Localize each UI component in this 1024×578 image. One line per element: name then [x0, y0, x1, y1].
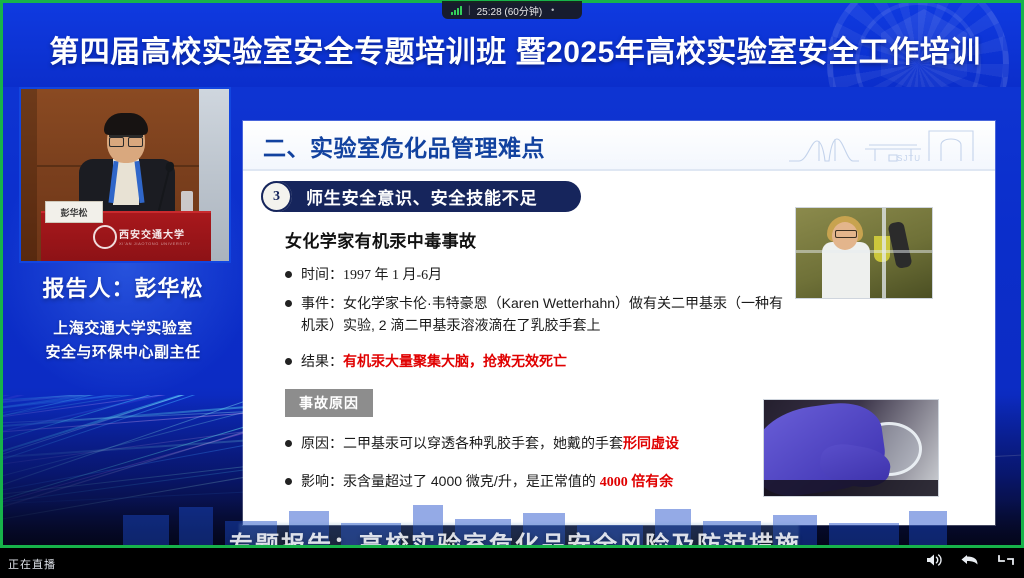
speaker-name: 报告人：彭华松: [11, 271, 235, 303]
cam-nameplate: 彭华松: [45, 201, 103, 223]
bullet-impact-highlight: 4000 倍有余: [600, 475, 674, 490]
live-stream-stage: 第四届高校实验室安全专题培训班 暨2025年高校实验室安全工作培训 西安交通大学…: [0, 0, 1024, 578]
bullet-result-label: 结果：: [301, 353, 343, 369]
bullet-event-value: 女化学家卡伦·韦特豪恩（Karen Wetterhahn）做有关二甲基汞（一种有…: [301, 295, 783, 333]
cam-podium-org-en: XI'AN JIAOTONG UNIVERSITY: [119, 241, 191, 246]
presentation-slide[interactable]: 二、实验室危化品管理难点 SJTU 3 师生安全意识、安全技能不足 女化学家有机…: [243, 121, 995, 525]
bullet-time: 时间：1997 年 1 月-6月: [285, 264, 442, 287]
slide-photo-chemist: [795, 207, 933, 299]
exit-fullscreen-icon[interactable]: [996, 550, 1016, 570]
bullet-impact-value: 汞含量超过了 4000 微克/升，是正常值的: [343, 473, 600, 489]
cause-section-label: 事故原因: [285, 389, 373, 417]
more-options-icon[interactable]: •: [548, 6, 557, 15]
bullet-impact-label: 影响：: [301, 473, 343, 489]
bullet-event: 事件：女化学家卡伦·韦特豪恩（Karen Wetterhahn）做有关二甲基汞（…: [285, 293, 789, 336]
speaker-affiliation: 上海交通大学实验室 安全与环保中心副主任: [11, 317, 235, 366]
live-status-label: 正在直播: [8, 556, 56, 572]
bullet-dot-icon: [285, 440, 292, 447]
case-study-title: 女化学家有机汞中毒事故: [285, 227, 476, 252]
slide-section-title: 二、实验室危化品管理难点: [263, 129, 545, 163]
sjtu-campus-landmark-icon: SJTU: [789, 125, 979, 169]
bullet-time-label: 时间：: [301, 266, 343, 282]
player-controls[interactable]: [924, 548, 1016, 572]
player-control-bar[interactable]: [0, 548, 1024, 578]
bullet-impact: 影响：汞含量超过了 4000 微克/升，是正常值的 4000 倍有余: [285, 471, 673, 494]
slide-photo-glove: [763, 399, 939, 497]
slide-item-number: 3: [261, 181, 292, 212]
status-separator: |: [468, 5, 471, 16]
speaker-affiliation-line2: 安全与环保中心副主任: [11, 341, 235, 365]
bullet-dot-icon: [285, 271, 292, 278]
cam-speaker-glasses-icon: [109, 135, 143, 145]
slide-item-title: 师生安全意识、安全技能不足: [292, 184, 559, 209]
speaker-info-block: 报告人：彭华松 上海交通大学实验室 安全与环保中心副主任: [11, 271, 235, 366]
bullet-event-label: 事件：: [301, 295, 343, 311]
status-pill[interactable]: | 25:28 (60分钟) •: [442, 1, 582, 19]
speaker-affiliation-line1: 上海交通大学实验室: [11, 317, 235, 341]
back-arrow-icon[interactable]: [960, 550, 980, 570]
slide-item-pill: 3 师生安全意识、安全技能不足: [261, 181, 581, 212]
bullet-cause-label: 原因：: [301, 435, 343, 451]
event-title: 第四届高校实验室安全专题培训班 暨2025年高校实验室安全工作培训: [3, 27, 1024, 71]
bullet-dot-icon: [285, 358, 292, 365]
bullet-cause-value: 二甲基汞可以穿透各种乳胶手套，她戴的手套: [343, 435, 623, 451]
bullet-dot-icon: [285, 300, 292, 307]
live-video-frame[interactable]: 第四届高校实验室安全专题培训班 暨2025年高校实验室安全工作培训 西安交通大学…: [0, 0, 1024, 548]
bullet-cause-highlight: 形同虚设: [623, 435, 679, 451]
ribbon-headline: 专题报告：高校实验室危化品安全风险及防范措施: [3, 519, 1024, 548]
signal-bars-icon: [451, 6, 462, 15]
cam-podium-org: 西安交通大学: [119, 226, 185, 241]
speaker-camera-feed[interactable]: 西安交通大学 XI'AN JIAOTONG UNIVERSITY 彭华松: [19, 87, 231, 263]
svg-text:SJTU: SJTU: [897, 154, 921, 163]
bullet-result-value: 有机汞大量聚集大脑，抢救无效死亡: [343, 353, 567, 369]
volume-icon[interactable]: [924, 550, 944, 570]
bullet-result: 结果：有机汞大量聚集大脑，抢救无效死亡: [285, 351, 567, 373]
bullet-cause: 原因：二甲基汞可以穿透各种乳胶手套，她戴的手套形同虚设: [285, 433, 679, 455]
bullet-time-value: 1997 年 1 月-6月: [343, 268, 442, 283]
bullet-dot-icon: [285, 478, 292, 485]
session-timer: 25:28 (60分钟): [477, 3, 543, 18]
cam-podium-logo-icon: [93, 225, 117, 249]
cam-left-panel: [21, 89, 37, 261]
cam-speaker-hair: [104, 113, 148, 135]
